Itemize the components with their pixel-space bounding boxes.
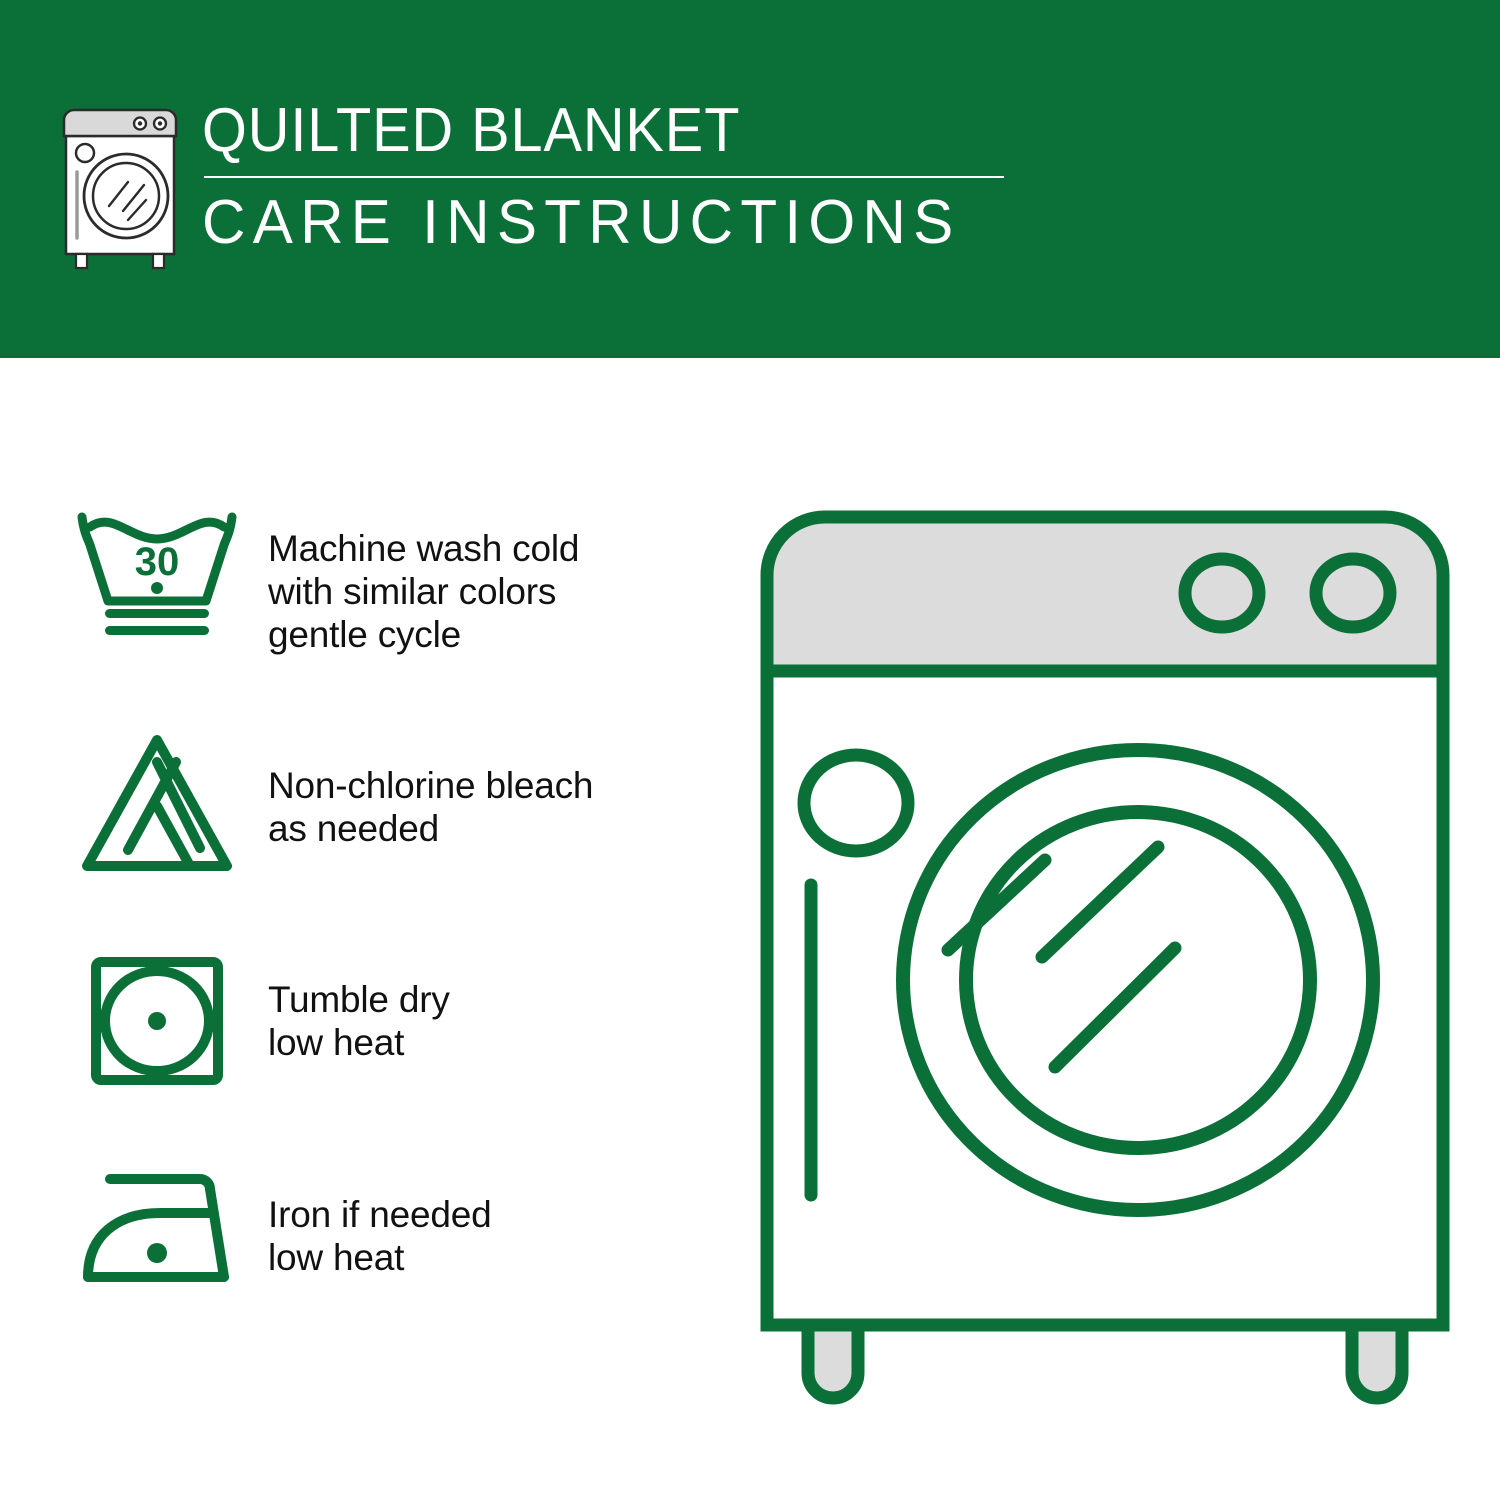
gentle-cycle-bar-2	[105, 626, 209, 635]
title-divider	[204, 176, 1004, 178]
gentle-cycle-bar-1	[105, 609, 209, 618]
care-text-line: with similar colors	[268, 570, 722, 613]
care-text-line: as needed	[268, 807, 722, 850]
care-icon-dry-wrapper	[72, 948, 252, 1093]
care-text-line: low heat	[268, 1021, 722, 1064]
iron-icon	[72, 1165, 242, 1295]
care-text-iron: Iron if needed low heat	[252, 1165, 722, 1279]
care-item-tumble-dry: Tumble dry low heat	[72, 948, 722, 1093]
care-item-bleach: Non-chlorine bleach as needed	[72, 728, 722, 878]
care-text-line: Iron if needed	[268, 1193, 722, 1236]
care-icon-wash-wrapper: 30	[72, 505, 252, 645]
header-content: QUILTED BLANKET CARE INSTRUCTIONS	[60, 96, 1040, 276]
machine-wash-tub-icon: 30	[72, 505, 242, 645]
care-text-line: Machine wash cold	[268, 527, 722, 570]
washing-machine-icon	[60, 106, 180, 271]
front-load-washing-machine-illustration	[745, 495, 1465, 1425]
control-knob-2	[1316, 559, 1390, 627]
care-text-line: gentle cycle	[268, 613, 722, 656]
wash-temperature-label: 30	[135, 540, 180, 584]
control-knob-1	[1185, 559, 1259, 627]
care-item-iron: Iron if needed low heat	[72, 1165, 722, 1295]
care-text-bleach: Non-chlorine bleach as needed	[252, 728, 722, 850]
care-text-line: Non-chlorine bleach	[268, 764, 722, 807]
indicator-circle	[804, 755, 908, 851]
care-instructions-page: QUILTED BLANKET CARE INSTRUCTIONS 30	[0, 0, 1500, 1500]
care-item-wash: 30 Machine wash cold with similar colors…	[72, 505, 722, 656]
care-text-line: Tumble dry	[268, 978, 722, 1021]
non-chlorine-bleach-triangle-icon	[72, 728, 242, 878]
page-title: QUILTED BLANKET	[202, 98, 981, 164]
care-instruction-list: 30 Machine wash cold with similar colors…	[72, 505, 722, 1295]
page-subtitle: CARE INSTRUCTIONS	[202, 188, 1015, 258]
machine-leg-right	[1352, 1325, 1402, 1398]
care-text-tumble-dry: Tumble dry low heat	[252, 948, 722, 1064]
tumble-dry-square-icon	[72, 948, 242, 1093]
header-banner: QUILTED BLANKET CARE INSTRUCTIONS	[0, 0, 1500, 358]
wash-dot-icon	[151, 582, 163, 594]
care-icon-bleach-wrapper	[72, 728, 252, 878]
header-title-group: QUILTED BLANKET CARE INSTRUCTIONS	[202, 96, 1040, 258]
iron-heat-dot-icon	[147, 1243, 167, 1263]
care-text-line: low heat	[268, 1236, 722, 1279]
machine-leg-left	[808, 1325, 858, 1398]
dry-heat-dot-icon	[148, 1012, 166, 1030]
care-icon-iron-wrapper	[72, 1165, 252, 1295]
care-text-wash: Machine wash cold with similar colors ge…	[252, 505, 722, 656]
